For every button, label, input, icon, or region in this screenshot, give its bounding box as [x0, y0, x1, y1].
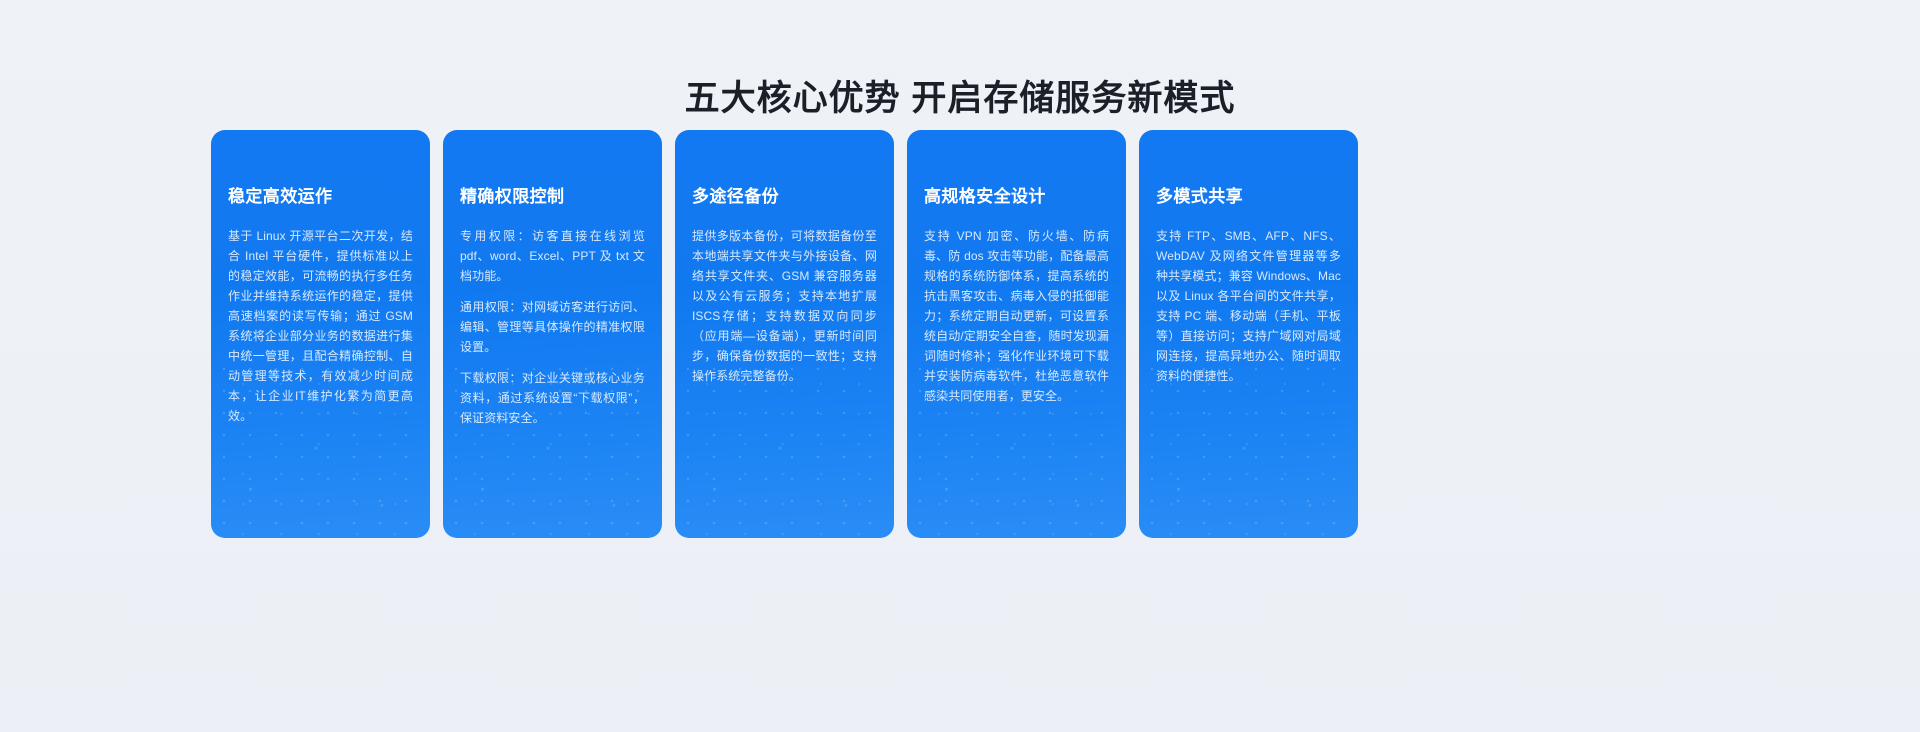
card-paragraph: 通用权限：对网域访客进行访问、编辑、管理等具体操作的精准权限设置。	[460, 297, 645, 357]
card-paragraph: 提供多版本备份，可将数据备份至本地端共享文件夹与外接设备、网络共享文件夹、GSM…	[692, 226, 877, 386]
feature-card-list: 稳定高效运作 基于 Linux 开源平台二次开发，结合 Intel 平台硬件，提…	[211, 130, 1711, 538]
card-paragraph: 支持 VPN 加密、防火墙、防病毒、防 dos 攻击等功能，配备最高规格的系统防…	[924, 226, 1109, 406]
card-body: 支持 VPN 加密、防火墙、防病毒、防 dos 攻击等功能，配备最高规格的系统防…	[924, 226, 1109, 406]
page-root: 五大核心优势 开启存储服务新模式 稳定高效运作 基于 Linux 开源平台二次开…	[0, 0, 1920, 732]
card-body: 基于 Linux 开源平台二次开发，结合 Intel 平台硬件，提供标准以上的稳…	[228, 226, 413, 426]
card-content: 多模式共享 支持 FTP、SMB、AFP、NFS、WebDAV 及网络文件管理器…	[1139, 130, 1358, 538]
feature-card-sharing[interactable]: 多模式共享 支持 FTP、SMB、AFP、NFS、WebDAV 及网络文件管理器…	[1139, 130, 1358, 538]
card-paragraph: 基于 Linux 开源平台二次开发，结合 Intel 平台硬件，提供标准以上的稳…	[228, 226, 413, 426]
card-paragraph: 支持 FTP、SMB、AFP、NFS、WebDAV 及网络文件管理器等多种共享模…	[1156, 226, 1341, 386]
card-title: 精确权限控制	[460, 185, 645, 209]
card-paragraph: 下载权限：对企业关键或核心业务资料，通过系统设置“下载权限”，保证资料安全。	[460, 368, 645, 428]
card-content: 高规格安全设计 支持 VPN 加密、防火墙、防病毒、防 dos 攻击等功能，配备…	[907, 130, 1126, 538]
page-title: 五大核心优势 开启存储服务新模式	[0, 75, 1920, 123]
card-body: 支持 FTP、SMB、AFP、NFS、WebDAV 及网络文件管理器等多种共享模…	[1156, 226, 1341, 386]
feature-card-permissions[interactable]: 精确权限控制 专用权限：访客直接在线浏览 pdf、word、Excel、PPT …	[443, 130, 662, 538]
card-paragraph: 专用权限：访客直接在线浏览 pdf、word、Excel、PPT 及 txt 文…	[460, 226, 645, 286]
feature-card-security[interactable]: 高规格安全设计 支持 VPN 加密、防火墙、防病毒、防 dos 攻击等功能，配备…	[907, 130, 1126, 538]
card-title: 多模式共享	[1156, 185, 1341, 209]
card-body: 提供多版本备份，可将数据备份至本地端共享文件夹与外接设备、网络共享文件夹、GSM…	[692, 226, 877, 386]
card-content: 多途径备份 提供多版本备份，可将数据备份至本地端共享文件夹与外接设备、网络共享文…	[675, 130, 894, 538]
card-content: 稳定高效运作 基于 Linux 开源平台二次开发，结合 Intel 平台硬件，提…	[211, 130, 430, 538]
feature-card-stability[interactable]: 稳定高效运作 基于 Linux 开源平台二次开发，结合 Intel 平台硬件，提…	[211, 130, 430, 538]
card-title: 稳定高效运作	[228, 185, 413, 209]
card-title: 多途径备份	[692, 185, 877, 209]
card-content: 精确权限控制 专用权限：访客直接在线浏览 pdf、word、Excel、PPT …	[443, 130, 662, 538]
card-title: 高规格安全设计	[924, 185, 1109, 209]
card-body: 专用权限：访客直接在线浏览 pdf、word、Excel、PPT 及 txt 文…	[460, 226, 645, 428]
feature-card-backup[interactable]: 多途径备份 提供多版本备份，可将数据备份至本地端共享文件夹与外接设备、网络共享文…	[675, 130, 894, 538]
